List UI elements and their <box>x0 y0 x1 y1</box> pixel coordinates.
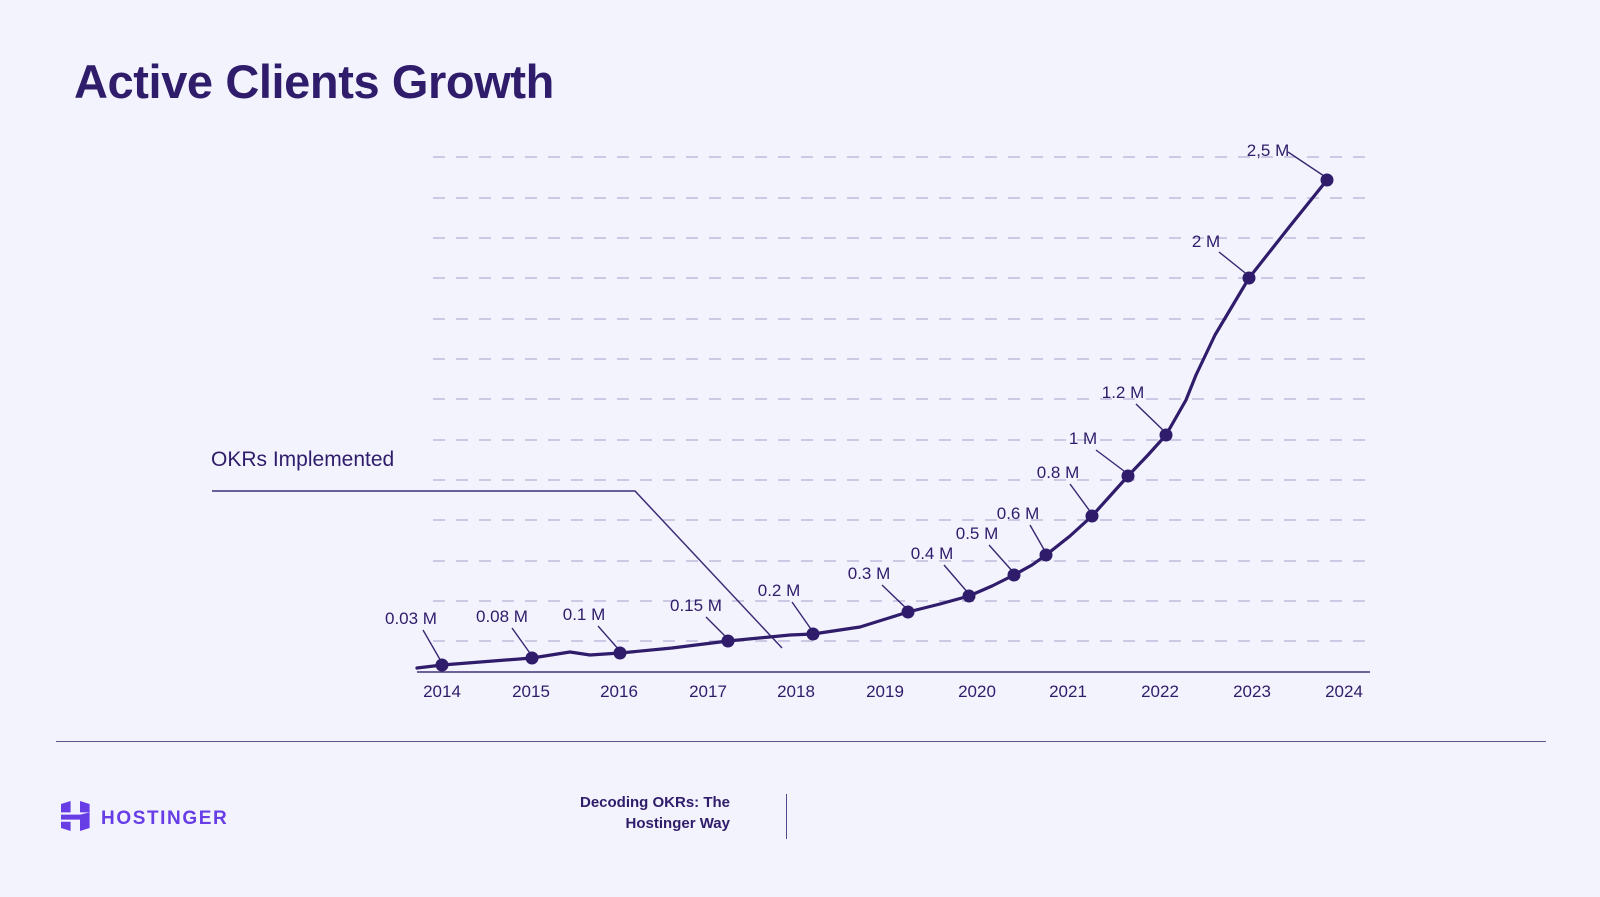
data-point[interactable] <box>722 635 735 648</box>
x-tick-label: 2017 <box>689 682 727 701</box>
brand-wordmark: HOSTINGER <box>101 808 228 830</box>
data-point[interactable] <box>1008 569 1021 582</box>
x-tick-label: 2022 <box>1141 682 1179 701</box>
data-point[interactable] <box>614 647 627 660</box>
hostinger-logo-icon <box>61 801 90 836</box>
leader-line <box>1136 404 1166 433</box>
label-leaders <box>423 152 1327 663</box>
hostinger-h-mark-icon <box>61 801 90 831</box>
data-point[interactable] <box>1086 510 1099 523</box>
x-tick-label: 2019 <box>866 682 904 701</box>
leader-line <box>512 628 532 656</box>
footer-divider-rule <box>56 741 1546 742</box>
value-label: 0.15 M <box>670 596 722 615</box>
leader-line <box>989 545 1014 573</box>
leader-line <box>1070 484 1092 514</box>
data-point[interactable] <box>1321 174 1334 187</box>
value-label: 1.2 M <box>1102 383 1145 402</box>
x-tick-label: 2014 <box>423 682 461 701</box>
value-label: 0.5 M <box>956 524 999 543</box>
x-tick-label: 2023 <box>1233 682 1271 701</box>
series-line <box>417 180 1327 668</box>
slide-root: Active Clients Growth <box>0 0 1600 897</box>
leader-line <box>1096 450 1128 474</box>
footer-caption: Decoding OKRs: The Hostinger Way <box>440 792 730 835</box>
value-labels: 0.03 M 0.08 M 0.1 M 0.15 M 0.2 M 0.3 M 0… <box>385 141 1289 628</box>
okrs-annotation-label: OKRs Implemented <box>211 448 394 471</box>
data-point[interactable] <box>963 590 976 603</box>
data-point[interactable] <box>1160 429 1173 442</box>
data-point[interactable] <box>1122 470 1135 483</box>
leader-line <box>792 602 813 632</box>
x-tick-label: 2018 <box>777 682 815 701</box>
value-label: 0.03 M <box>385 609 437 628</box>
value-label: 0.3 M <box>848 564 891 583</box>
leader-line <box>1030 525 1046 553</box>
value-label: 0.4 M <box>911 544 954 563</box>
leader-line <box>1219 252 1249 276</box>
x-axis-labels: 2014 2015 2016 2017 2018 2019 2020 2021 … <box>423 682 1363 701</box>
value-label: 1 M <box>1069 429 1097 448</box>
line-chart: 0.03 M 0.08 M 0.1 M 0.15 M 0.2 M 0.3 M 0… <box>0 0 1600 760</box>
leader-line <box>423 630 442 663</box>
leader-line <box>944 565 969 594</box>
x-tick-label: 2021 <box>1049 682 1087 701</box>
x-tick-label: 2024 <box>1325 682 1363 701</box>
data-point[interactable] <box>1040 549 1053 562</box>
value-label: 0.6 M <box>997 504 1040 523</box>
data-point[interactable] <box>902 606 915 619</box>
value-label: 0.08 M <box>476 607 528 626</box>
x-tick-label: 2020 <box>958 682 996 701</box>
data-point[interactable] <box>526 652 539 665</box>
x-tick-label: 2015 <box>512 682 550 701</box>
value-label: 2 M <box>1192 232 1220 251</box>
gridlines <box>433 157 1370 641</box>
footer-caption-line-2: Hostinger Way <box>440 813 730 834</box>
value-label: 2,5 M <box>1247 141 1290 160</box>
footer-caption-line-1: Decoding OKRs: The <box>440 792 730 813</box>
leader-line <box>1288 152 1327 178</box>
x-tick-label: 2016 <box>600 682 638 701</box>
data-point[interactable] <box>1243 272 1256 285</box>
footer-vertical-divider <box>786 794 787 839</box>
value-label: 0.8 M <box>1037 463 1080 482</box>
data-point[interactable] <box>807 628 820 641</box>
leader-line <box>598 626 620 651</box>
value-label: 0.2 M <box>758 581 801 600</box>
value-label: 0.1 M <box>563 605 606 624</box>
brand-lockup: HOSTINGER <box>61 801 228 836</box>
data-point[interactable] <box>436 659 449 672</box>
footer: HOSTINGER Decoding OKRs: The Hostinger W… <box>0 760 1600 897</box>
leader-line <box>882 585 908 610</box>
chart-area: 0.03 M 0.08 M 0.1 M 0.15 M 0.2 M 0.3 M 0… <box>0 0 1600 760</box>
